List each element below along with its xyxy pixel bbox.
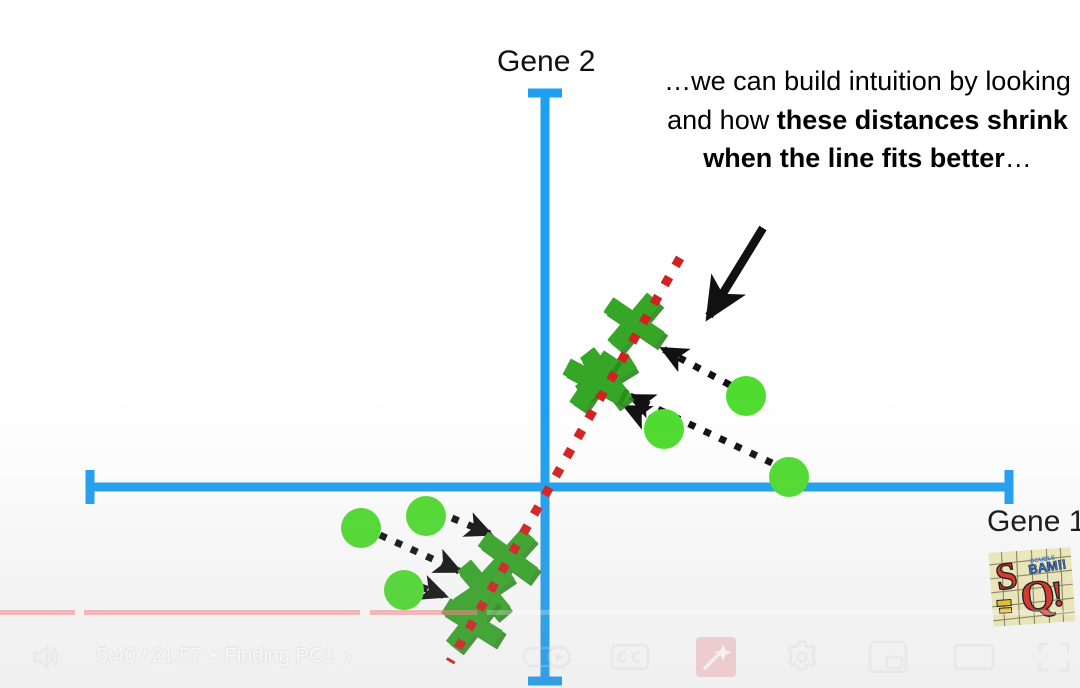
autoplay-toggle[interactable] [515, 625, 579, 688]
progress-bar[interactable] [0, 610, 1080, 615]
caption-line-2-bold: these [777, 105, 848, 135]
data-point-dot [726, 376, 766, 416]
statquest-logo: BAM!! DOUBLE S Q ! [988, 546, 1076, 628]
narration-caption: …we can build intuition by looking and h… [655, 62, 1080, 178]
theater-button[interactable] [947, 625, 1001, 688]
data-point-dot [384, 570, 424, 610]
fullscreen-icon [1036, 639, 1072, 675]
settings-button[interactable] [775, 625, 829, 688]
gear-icon [783, 638, 821, 676]
player-controls: 5:40 / 21:57 • Finding PC1 › [0, 625, 1080, 688]
progress-chapter[interactable] [370, 610, 477, 615]
time-and-chapter: 5:40 / 21:57 • Finding PC1 › [97, 625, 352, 688]
slide-canvas: Gene 2 Gene 1 …we can build intuition by… [0, 0, 1080, 688]
autoplay-icon [522, 642, 572, 672]
fullscreen-button[interactable] [1027, 625, 1080, 688]
data-point-dot [341, 508, 381, 548]
caption-line-4-plain: … [1005, 143, 1032, 173]
progress-chapter[interactable] [84, 610, 359, 615]
duration: 21:57 [152, 645, 202, 668]
data-point-dot [769, 457, 809, 497]
captions-button[interactable] [603, 625, 657, 688]
caption-line-4-bold: line fits better [828, 143, 1005, 173]
chapter-chevron-icon[interactable]: › [335, 643, 352, 671]
data-point-dot [406, 496, 446, 536]
axis-x [88, 470, 1012, 504]
progress-chapter[interactable] [487, 610, 1080, 615]
volume-button[interactable] [18, 625, 72, 688]
callout-arrow [709, 228, 763, 316]
miniplayer-icon [868, 640, 908, 674]
data-point-dot [644, 409, 684, 449]
caption-line-1: …we can build intuition by [664, 66, 978, 96]
axis-y [528, 90, 562, 684]
cc-icon [610, 642, 650, 672]
current-time: 5:40 [97, 645, 136, 668]
progress-chapter[interactable] [0, 610, 75, 615]
sparkle-button[interactable] [689, 625, 743, 688]
magic-wand-icon [695, 636, 737, 678]
x-axis-label: Gene 1 [987, 505, 1080, 539]
y-axis-label: Gene 2 [497, 45, 595, 79]
chapter-title[interactable]: Finding PC1 [225, 645, 335, 668]
speaker-icon [27, 639, 63, 675]
theater-icon [953, 642, 995, 672]
video-player-stage: Gene 2 Gene 1 …we can build intuition by… [0, 0, 1080, 688]
miniplayer-button[interactable] [861, 625, 915, 688]
chapter-separator: • [202, 645, 225, 668]
